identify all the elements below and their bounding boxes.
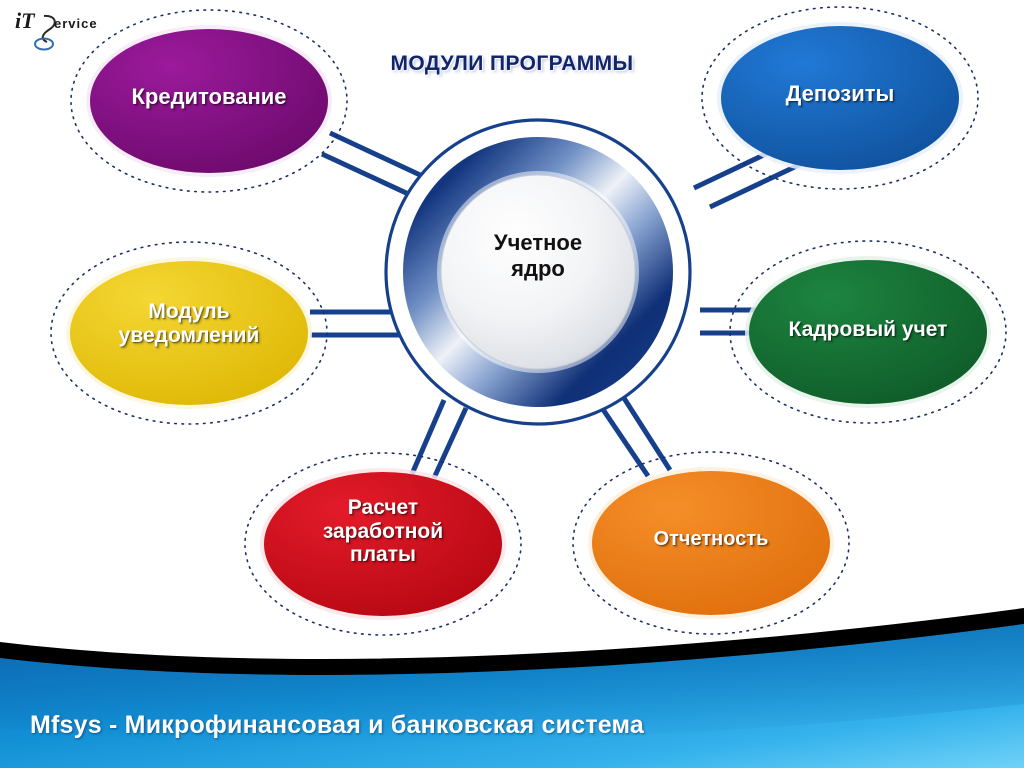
page-title: МОДУЛИ ПРОГРАММЫ: [0, 52, 1024, 76]
module-node-depozity[interactable]: [702, 7, 978, 189]
module-node-kreditovanie[interactable]: [71, 10, 347, 192]
module-node-kadroviy-uchet[interactable]: [730, 241, 1006, 423]
modules-diagram: [0, 0, 1024, 660]
slide-canvas: iT ervice МОДУЛИ ПРОГРАММЫ: [0, 0, 1024, 768]
module-node-otchetnost[interactable]: [573, 452, 849, 634]
connector-to-raschet-zarplaty: [412, 400, 466, 478]
core-label: Учетное ядро: [418, 230, 658, 283]
footer-title: Mfsys - Микрофинансовая и банковская сис…: [30, 711, 644, 740]
footer-band: [0, 608, 1024, 768]
module-node-modul-uvedomleniy[interactable]: [51, 242, 327, 424]
